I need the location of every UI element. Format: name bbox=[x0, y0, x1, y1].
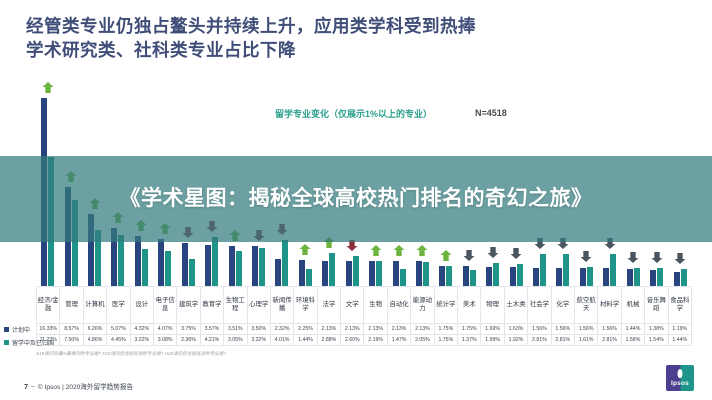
bar-studying bbox=[446, 266, 452, 286]
column-header: 能源动力 bbox=[411, 287, 434, 324]
bar-studying bbox=[610, 254, 616, 286]
column-header: 物理 bbox=[481, 287, 504, 324]
legend-label-planned: 计划中 bbox=[12, 325, 30, 334]
column-header: 化学 bbox=[551, 287, 574, 324]
column-header: 生物 bbox=[364, 287, 387, 324]
column-header: 文学 bbox=[341, 287, 364, 324]
column-header: 新闻传播 bbox=[270, 287, 293, 324]
table-cell: 1.92% bbox=[504, 335, 527, 346]
column-header: 计算机 bbox=[83, 287, 106, 324]
table-cell: 1.19% bbox=[668, 324, 691, 335]
column-header: 法学 bbox=[317, 287, 340, 324]
column-header: 航空航天 bbox=[574, 287, 597, 324]
bar-studying bbox=[165, 251, 171, 287]
bar-planned bbox=[346, 261, 352, 286]
table-cell: 4.01% bbox=[270, 335, 293, 346]
table-cell: 1.44% bbox=[621, 324, 644, 335]
trend-up-icon bbox=[370, 245, 381, 256]
bar-studying bbox=[540, 254, 546, 286]
bar-planned bbox=[486, 267, 492, 286]
table-cell: 1.56% bbox=[574, 324, 597, 335]
table-cell: 2.32% bbox=[270, 324, 293, 335]
bar-planned bbox=[229, 246, 235, 286]
bar-planned bbox=[135, 236, 141, 286]
page-number: 7 bbox=[24, 382, 28, 391]
bar-studying bbox=[189, 259, 195, 286]
table-cell: 6.26% bbox=[83, 324, 106, 335]
table-cell: 4.45% bbox=[107, 335, 130, 346]
table-cell: 3.05% bbox=[224, 335, 247, 346]
bar-planned bbox=[299, 260, 305, 286]
table-cell: 1.56% bbox=[598, 324, 621, 335]
bar-studying bbox=[306, 269, 312, 286]
bar-planned bbox=[439, 266, 445, 286]
column-header: 土木类 bbox=[504, 287, 527, 324]
bar-planned bbox=[650, 270, 656, 286]
table-cell: 3.75% bbox=[177, 324, 200, 335]
footnote: S19请问您最m最像列的专业是? F20请问您当前就读的专业是? H20请问您当… bbox=[36, 350, 516, 357]
bar-planned bbox=[510, 267, 516, 286]
table-cell: 2.19% bbox=[364, 335, 387, 346]
bar-studying bbox=[470, 270, 476, 286]
overlay-banner: 《学术星图：揭秘全球高校热门排名的奇幻之旅》 bbox=[0, 156, 712, 242]
slide-root: 经管类专业仍独占鳌头并持续上升，应用类学科受到热捧 学术研究类、社科类专业占比下… bbox=[0, 0, 712, 400]
table-cell: 1.69% bbox=[481, 324, 504, 335]
page-footer-dash: – bbox=[31, 383, 35, 390]
bar-planned bbox=[252, 246, 258, 286]
bar-studying bbox=[376, 261, 382, 286]
legend-swatch-studying bbox=[4, 340, 9, 345]
column-header: 食品科学 bbox=[668, 287, 691, 324]
bar-planned bbox=[275, 259, 281, 286]
bar-planned bbox=[205, 245, 211, 286]
column-header: 设计 bbox=[130, 287, 153, 324]
table-cell: 5.07% bbox=[107, 324, 130, 335]
bar-studying bbox=[329, 253, 335, 286]
trend-up-icon bbox=[440, 250, 451, 261]
overlay-title: 《学术星图：揭秘全球高校热门排名的奇幻之旅》 bbox=[31, 184, 681, 214]
bar-studying bbox=[634, 268, 640, 286]
bar-studying bbox=[353, 256, 359, 286]
table-cell: 2.13% bbox=[387, 324, 410, 335]
headline: 经管类专业仍独占鳌头并持续上升，应用类学科受到热捧 学术研究类、社科类专业占比下… bbox=[26, 14, 686, 62]
logo-mark-icon bbox=[678, 369, 683, 378]
table-row: 16.33%8.57%6.26%5.07%4.32%4.07%3.75%3.57… bbox=[37, 324, 692, 335]
table-cell: 2.13% bbox=[411, 324, 434, 335]
bar-planned bbox=[580, 268, 586, 286]
table-cell: 3.51% bbox=[224, 324, 247, 335]
logo-text: Ipsos bbox=[671, 380, 689, 387]
table-cell: 1.44% bbox=[294, 335, 317, 346]
table-cell: 1.47% bbox=[387, 335, 410, 346]
table-cell: 1.75% bbox=[434, 335, 457, 346]
bar-studying bbox=[236, 251, 242, 286]
table-cell: 1.75% bbox=[458, 324, 481, 335]
table-header-row: 经济/金融管理计算机医学设计电子信息建筑学教育学生物工程心理学新闻传播环境科学法… bbox=[37, 287, 692, 324]
table-cell: 1.38% bbox=[645, 324, 668, 335]
trend-down-icon bbox=[464, 250, 475, 261]
column-header: 管理 bbox=[60, 287, 83, 324]
trend-down-icon bbox=[675, 253, 686, 264]
table-cell: 3.32% bbox=[247, 335, 270, 346]
trend-up-icon bbox=[300, 244, 311, 255]
bar-planned bbox=[556, 268, 562, 286]
bar-planned bbox=[627, 269, 633, 286]
table-cell: 3.50% bbox=[247, 324, 270, 335]
table-cell: 1.63% bbox=[504, 324, 527, 335]
bar-planned bbox=[182, 243, 188, 286]
table-row: 11.23%7.50%4.86%4.45%3.22%3.08%2.36%4.21… bbox=[37, 335, 692, 346]
bar-planned bbox=[416, 261, 422, 286]
column-header: 环境科学 bbox=[294, 287, 317, 324]
table-cell: 3.08% bbox=[153, 335, 176, 346]
table-cell: 2.81% bbox=[528, 335, 551, 346]
bar-studying bbox=[517, 264, 523, 286]
bar-studying bbox=[282, 240, 288, 286]
table-cell: 2.81% bbox=[551, 335, 574, 346]
column-header: 建筑学 bbox=[177, 287, 200, 324]
column-header: 教育学 bbox=[200, 287, 223, 324]
table-cell: 3.57% bbox=[200, 324, 223, 335]
table-cell: 1.37% bbox=[458, 335, 481, 346]
table-cell: 2.60% bbox=[341, 335, 364, 346]
bar-studying bbox=[493, 263, 499, 286]
column-header: 医学 bbox=[107, 287, 130, 324]
data-table: 经济/金融管理计算机医学设计电子信息建筑学教育学生物工程心理学新闻传播环境科学法… bbox=[36, 286, 692, 346]
table-cell: 2.88% bbox=[317, 335, 340, 346]
table-cell: 4.86% bbox=[83, 335, 106, 346]
bar-planned bbox=[533, 268, 539, 286]
legend-item-planned: 计划中 bbox=[4, 325, 74, 334]
bar-planned bbox=[158, 239, 164, 286]
bar-studying bbox=[400, 269, 406, 286]
bar-planned bbox=[322, 261, 328, 286]
column-header: 经济/金融 bbox=[37, 287, 60, 324]
column-header: 统计学 bbox=[434, 287, 457, 324]
table-cell: 3.22% bbox=[130, 335, 153, 346]
bar-studying bbox=[118, 235, 124, 286]
column-header: 美术 bbox=[458, 287, 481, 324]
table-cell: 1.56% bbox=[551, 324, 574, 335]
table-cell: 4.32% bbox=[130, 324, 153, 335]
table-cell: 1.56% bbox=[528, 324, 551, 335]
column-header: 社会学 bbox=[528, 287, 551, 324]
table-cell: 1.75% bbox=[434, 324, 457, 335]
table-cell: 4.21% bbox=[200, 335, 223, 346]
trend-up-icon bbox=[417, 245, 428, 256]
table-cell: 2.13% bbox=[341, 324, 364, 335]
table-cell: 2.05% bbox=[411, 335, 434, 346]
trend-down-icon bbox=[651, 252, 662, 263]
table-cell: 2.25% bbox=[294, 324, 317, 335]
bar-studying bbox=[142, 249, 148, 286]
bar-planned bbox=[369, 261, 375, 286]
trend-up-icon bbox=[42, 82, 53, 93]
table-cell: 1.54% bbox=[645, 335, 668, 346]
bar-planned bbox=[603, 268, 609, 286]
bar-planned bbox=[674, 272, 680, 286]
column-header: 材料学 bbox=[598, 287, 621, 324]
trend-down-icon bbox=[487, 247, 498, 258]
bar-studying bbox=[563, 254, 569, 286]
bar-planned bbox=[463, 266, 469, 286]
bar-studying bbox=[423, 262, 429, 286]
bar-studying bbox=[259, 248, 265, 286]
column-header: 自动化 bbox=[387, 287, 410, 324]
page-footer: 7 – © Ipsos | 2020海外留学趋势报告 bbox=[24, 381, 133, 391]
trend-down-icon bbox=[511, 248, 522, 259]
ipsos-logo: Ipsos bbox=[666, 365, 694, 391]
table-cell: 2.36% bbox=[177, 335, 200, 346]
table-cell: 1.58% bbox=[621, 335, 644, 346]
bar-studying bbox=[587, 267, 593, 286]
table-cell: 2.13% bbox=[364, 324, 387, 335]
table-cell: 2.81% bbox=[598, 335, 621, 346]
page-footer-text: © Ipsos | 2020海外留学趋势报告 bbox=[38, 381, 133, 391]
bar-studying bbox=[681, 269, 687, 286]
table-cell: 1.61% bbox=[574, 335, 597, 346]
column-header: 心理学 bbox=[247, 287, 270, 324]
legend-item-studying: 留学中及已归国 bbox=[4, 338, 74, 347]
table-cell: 1.99% bbox=[481, 335, 504, 346]
trend-down-icon bbox=[628, 252, 639, 263]
column-header: 生物工程 bbox=[224, 287, 247, 324]
table-cell: 2.13% bbox=[317, 324, 340, 335]
bar-studying bbox=[657, 268, 663, 286]
column-header: 电子信息 bbox=[153, 287, 176, 324]
column-header: 机械 bbox=[621, 287, 644, 324]
legend-label-studying: 留学中及已归国 bbox=[12, 338, 54, 347]
table-cell: 1.44% bbox=[668, 335, 691, 346]
trend-down-icon bbox=[581, 251, 592, 262]
legend-swatch-planned bbox=[4, 327, 9, 332]
trend-up-icon bbox=[394, 245, 405, 256]
table-cell: 4.07% bbox=[153, 324, 176, 335]
bar-studying bbox=[212, 237, 218, 286]
column-header: 音乐舞蹈 bbox=[645, 287, 668, 324]
bar-planned bbox=[393, 261, 399, 286]
